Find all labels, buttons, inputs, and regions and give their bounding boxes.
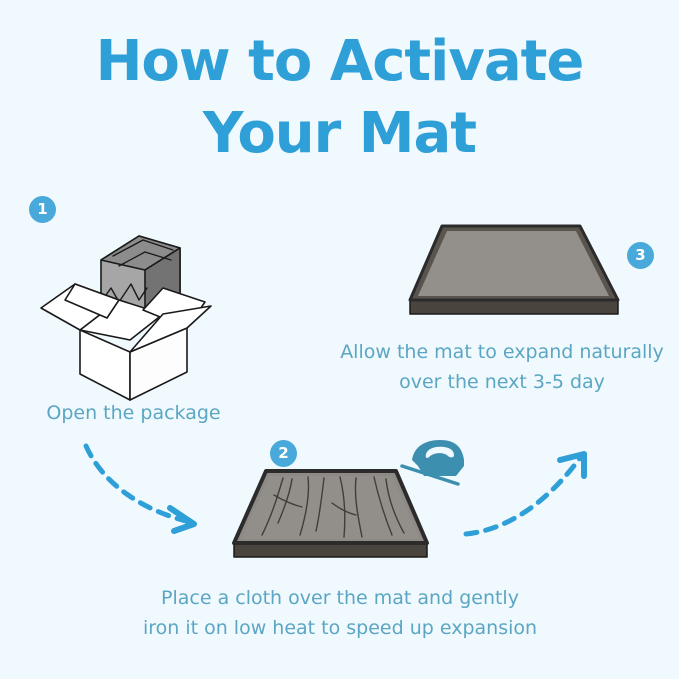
- step-2-caption-line-1: Place a cloth over the mat and gently: [161, 587, 519, 609]
- dashed-curved-arrow-down-right: [78, 438, 228, 538]
- step-badge-3: 3: [627, 242, 654, 269]
- step-3-caption: Allow the mat to expand naturally over t…: [325, 337, 679, 397]
- step-2-caption: Place a cloth over the mat and gently ir…: [90, 583, 590, 643]
- flat-mat-icon: [400, 218, 630, 328]
- title-line-2: Your Mat: [0, 98, 679, 170]
- infographic-canvas: How to Activate Your Mat 1: [0, 0, 679, 679]
- step-badge-2: 2: [270, 440, 297, 467]
- step-2-caption-line-2: iron it on low heat to speed up expansio…: [143, 617, 537, 639]
- step-badge-1: 1: [29, 196, 56, 223]
- dashed-curved-arrow-up-right: [462, 442, 602, 542]
- wrinkled-mat-icon: [228, 465, 433, 570]
- step-1-caption-line-1: Open the package: [46, 402, 220, 424]
- cardboard-box-icon: [35, 222, 225, 402]
- step-3-caption-line-1: Allow the mat to expand naturally: [340, 341, 664, 363]
- step-1-caption: Open the package: [0, 398, 267, 428]
- page-title: How to Activate Your Mat: [0, 26, 679, 170]
- step-3-caption-line-2: over the next 3-5 day: [399, 371, 605, 393]
- title-line-1: How to Activate: [0, 26, 679, 98]
